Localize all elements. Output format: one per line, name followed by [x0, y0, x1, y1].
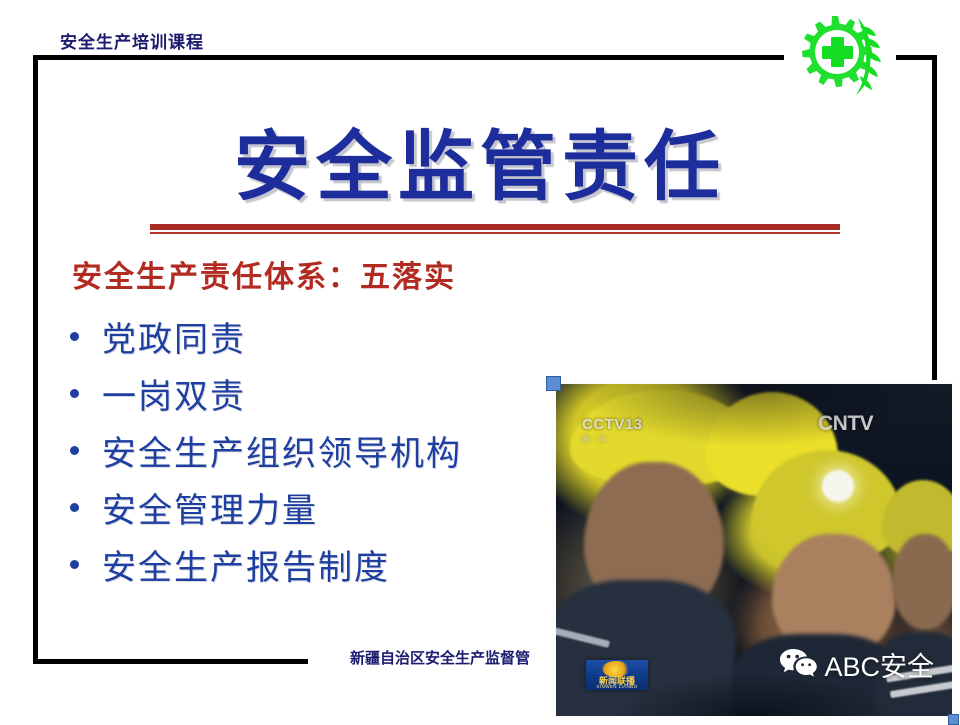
- xinwen-lianbo-pinyin: XINWEN LIANBO: [586, 684, 648, 689]
- bullet-label: 一岗双责: [102, 369, 246, 418]
- safety-production-logo-icon: [786, 8, 898, 104]
- bullet-dot-icon: [70, 446, 79, 455]
- bullet-label: 安全管理力量: [102, 483, 318, 532]
- bullet-dot-icon: [70, 389, 79, 398]
- slide-footer-label: 新疆自治区安全生产监督管: [350, 647, 530, 668]
- person-torso-shape: [556, 580, 736, 716]
- frame-border-top-left-segment: [33, 55, 784, 60]
- cctv-channel-number: 13: [625, 416, 643, 433]
- frame-border-top-right-segment: [896, 55, 937, 60]
- list-item: 一岗双责: [70, 365, 590, 422]
- bullet-label: 安全生产组织领导机构: [102, 426, 462, 475]
- wechat-account-name: ABC安全: [824, 645, 934, 684]
- bullet-dot-icon: [70, 560, 79, 569]
- bullet-list: 党政同责 一岗双责 安全生产组织领导机构 安全管理力量 安全生产报告制度: [70, 308, 590, 593]
- slide-subtitle: 安全生产责任体系：五落实: [72, 252, 456, 296]
- cntv-watermark: CNTV: [818, 412, 873, 436]
- cctv-watermark-cn: 新 闻: [582, 434, 643, 445]
- red-divider-thin-bar: [150, 232, 840, 234]
- xinwen-lianbo-logo: 新闻联播 XINWEN LIANBO: [586, 660, 648, 690]
- list-item: 安全生产报告制度: [70, 536, 590, 593]
- image-selection-handle-top-left[interactable]: [546, 376, 561, 391]
- list-item: 安全生产组织领导机构: [70, 422, 590, 479]
- list-item: 党政同责: [70, 308, 590, 365]
- wechat-watermark: ABC安全: [779, 645, 934, 684]
- cctv13-watermark: CCTV13 新 闻: [582, 416, 643, 445]
- bullet-dot-icon: [70, 332, 79, 341]
- slide-canvas: 安全生产培训课程: [0, 0, 960, 720]
- wechat-logo-icon: [779, 647, 817, 682]
- red-divider-rule: [150, 224, 840, 234]
- bullet-label: 安全生产报告制度: [102, 540, 390, 589]
- frame-border-bottom: [33, 659, 308, 664]
- embedded-video-image[interactable]: CCTV13 新 闻 CNTV 新闻联播 XINWEN LIANBO: [552, 380, 954, 720]
- course-header-label: 安全生产培训课程: [60, 28, 204, 53]
- video-still-content: CCTV13 新 闻 CNTV 新闻联播 XINWEN LIANBO: [556, 384, 952, 716]
- bullet-label: 党政同责: [102, 312, 246, 361]
- helmet-lamp-icon: [822, 470, 854, 502]
- person-face-shape: [892, 534, 952, 630]
- list-item: 安全管理力量: [70, 479, 590, 536]
- slide-main-title: 安全监管责任: [0, 105, 960, 215]
- cctv-watermark-text: CCTV: [582, 416, 625, 433]
- bullet-dot-icon: [70, 503, 79, 512]
